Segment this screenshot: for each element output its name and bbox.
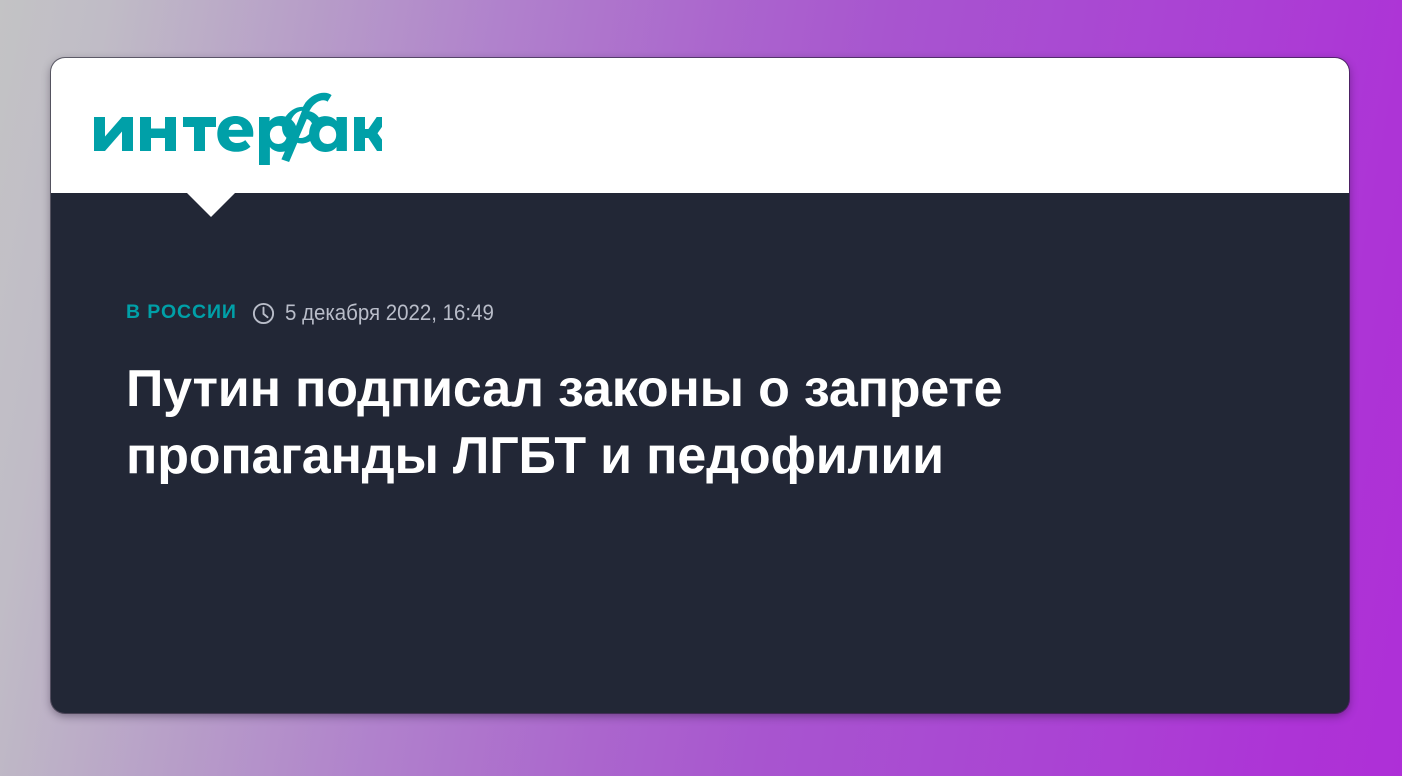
brand-band: [51, 58, 1349, 193]
interfax-wordmark-logo[interactable]: [92, 91, 382, 165]
article-meta-row: В РОССИИ 5 декабря 2022, 16:49: [126, 300, 1289, 326]
article-body: В РОССИИ 5 декабря 2022, 16:49 Путин под…: [51, 193, 1349, 490]
news-card[interactable]: В РОССИИ 5 декабря 2022, 16:49 Путин под…: [51, 58, 1349, 713]
clock-icon: [252, 302, 275, 325]
article-publish-time: 5 декабря 2022, 16:49: [285, 302, 494, 324]
article-headline[interactable]: Путин подписал законы о запрете пропаган…: [126, 356, 1256, 490]
article-category-link[interactable]: В РОССИИ: [126, 303, 237, 323]
